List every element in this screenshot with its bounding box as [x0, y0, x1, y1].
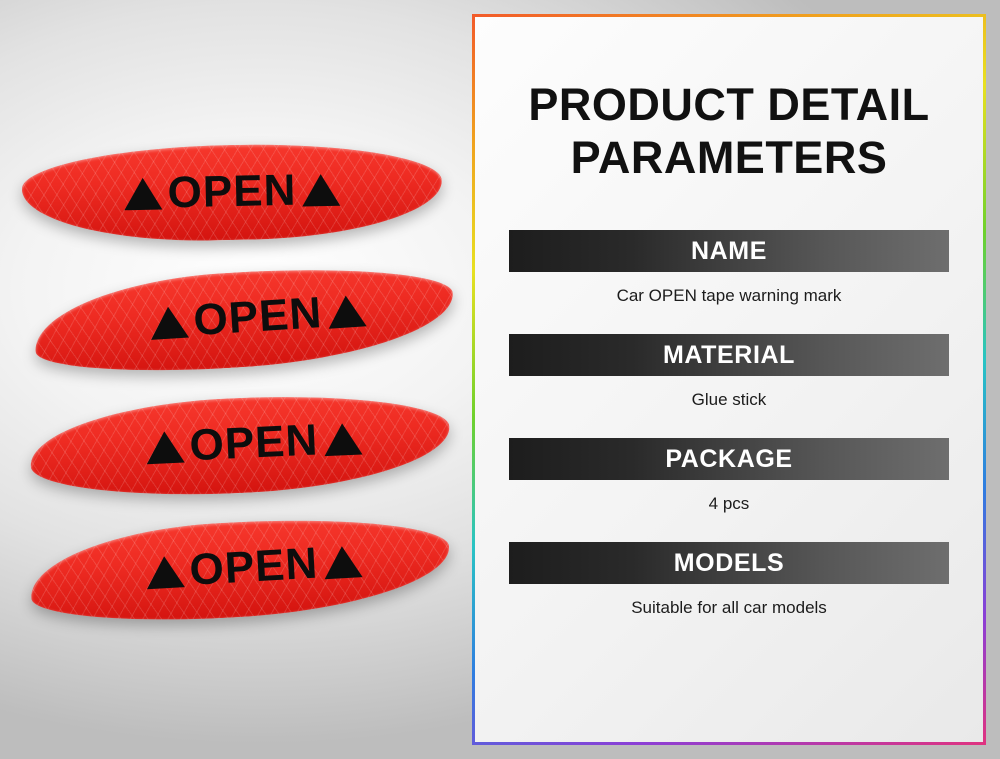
- product-sticker: OPEN: [28, 510, 453, 628]
- product-photo-area: OPEN OPEN OPEN OPEN: [0, 0, 486, 759]
- spec-label: MODELS: [509, 542, 949, 584]
- spec-row: MODELS Suitable for all car models: [509, 542, 949, 626]
- product-sticker: OPEN: [28, 389, 452, 503]
- triangle-icon: [327, 294, 367, 328]
- triangle-icon: [145, 555, 185, 589]
- spec-value: Suitable for all car models: [509, 584, 949, 626]
- sticker-text: OPEN: [144, 536, 363, 598]
- sticker-label: OPEN: [188, 538, 319, 595]
- spec-row: PACKAGE 4 pcs: [509, 438, 949, 522]
- triangle-icon: [302, 173, 341, 206]
- panel-title-line-1: PRODUCT DETAIL: [509, 79, 949, 132]
- spec-panel-border: PRODUCT DETAIL PARAMETERS NAME Car OPEN …: [472, 14, 986, 745]
- spec-label: MATERIAL: [509, 334, 949, 376]
- sticker-text: OPEN: [123, 164, 341, 219]
- spec-value: 4 pcs: [509, 480, 949, 522]
- triangle-icon: [123, 177, 162, 210]
- spec-row: NAME Car OPEN tape warning mark: [509, 230, 949, 314]
- sticker-text: OPEN: [148, 285, 367, 349]
- triangle-icon: [323, 545, 363, 579]
- sticker-text: OPEN: [145, 413, 364, 473]
- triangle-icon: [149, 305, 189, 339]
- panel-title-line-2: PARAMETERS: [509, 132, 949, 185]
- spec-panel: PRODUCT DETAIL PARAMETERS NAME Car OPEN …: [475, 17, 983, 742]
- product-sticker: OPEN: [21, 141, 443, 245]
- product-detail-image: OPEN OPEN OPEN OPEN: [0, 0, 1000, 759]
- sticker-label: OPEN: [188, 415, 319, 471]
- sticker-label: OPEN: [192, 288, 324, 346]
- spec-value: Car OPEN tape warning mark: [509, 272, 949, 314]
- triangle-icon: [323, 422, 362, 456]
- panel-title: PRODUCT DETAIL PARAMETERS: [509, 79, 949, 184]
- spec-label: NAME: [509, 230, 949, 272]
- spec-value: Glue stick: [509, 376, 949, 418]
- spec-label: PACKAGE: [509, 438, 949, 480]
- sticker-label: OPEN: [167, 165, 297, 218]
- spec-row: MATERIAL Glue stick: [509, 334, 949, 418]
- product-sticker: OPEN: [31, 259, 456, 380]
- triangle-icon: [145, 430, 184, 464]
- spec-list: NAME Car OPEN tape warning mark MATERIAL…: [509, 230, 949, 626]
